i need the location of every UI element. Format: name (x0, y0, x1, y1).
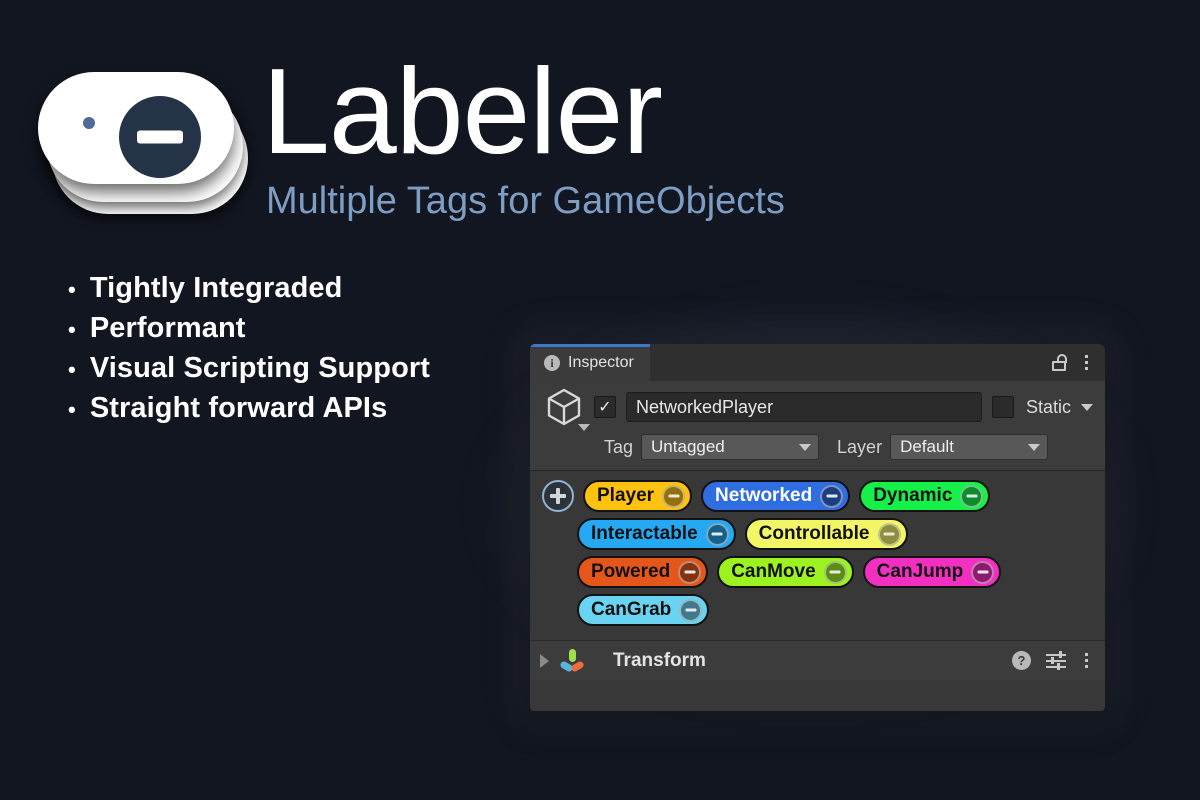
tab-inspector[interactable]: i Inspector (530, 344, 650, 381)
remove-tag-minus-icon[interactable] (960, 485, 983, 508)
tag-chip-label: Powered (591, 561, 670, 583)
tabbar-spacer (650, 344, 1052, 381)
remove-tag-minus-icon[interactable] (824, 561, 847, 584)
tag-chip-networked[interactable]: Networked (701, 480, 850, 512)
layer-label: Layer (837, 437, 882, 458)
chevron-down-icon (1028, 444, 1040, 451)
logo-stack-layer-1 (38, 72, 234, 184)
transform-axis-icon (559, 648, 585, 674)
help-icon[interactable]: ? (1012, 651, 1031, 670)
tag-dropdown[interactable]: Untagged (641, 434, 819, 460)
list-item-label: Performant (90, 312, 246, 345)
tag-chip-label: Interactable (591, 523, 698, 545)
remove-tag-minus-icon[interactable] (679, 599, 702, 622)
tag-minus-stack-logo-icon (48, 82, 224, 174)
list-item-label: Visual Scripting Support (90, 352, 430, 385)
list-item: • Performant (68, 312, 430, 345)
tabbar-actions (1052, 344, 1105, 381)
chevron-down-icon (799, 444, 811, 451)
gameobject-header: ✓ NetworkedPlayer Static Tag Untagged La… (530, 381, 1105, 471)
tag-chip-controllable[interactable]: Controllable (745, 518, 908, 550)
list-item: • Visual Scripting Support (68, 352, 430, 385)
tag-chip-canjump[interactable]: CanJump (863, 556, 1002, 588)
list-item-label: Straight forward APIs (90, 392, 388, 425)
chevron-down-icon (578, 424, 590, 431)
bullet-dot: • (68, 279, 76, 301)
inspector-panel: i Inspector (530, 344, 1105, 711)
remove-tag-minus-icon[interactable] (662, 485, 685, 508)
tag-row: CanGrab (542, 594, 1095, 626)
tag-chip-label: CanJump (877, 561, 964, 583)
gameobject-name-input[interactable]: NetworkedPlayer (626, 392, 982, 422)
cube-icon[interactable] (544, 387, 584, 427)
tag-chip-label: Controllable (759, 523, 870, 545)
remove-tag-minus-icon[interactable] (678, 561, 701, 584)
foldout-collapsed-icon[interactable] (540, 654, 549, 668)
tag-chip-powered[interactable]: Powered (577, 556, 708, 588)
remove-tag-minus-icon[interactable] (878, 523, 901, 546)
tag-row: Powered CanMove CanJump (542, 556, 1095, 588)
component-header-transform[interactable]: Transform ? (530, 640, 1105, 680)
minus-circle-icon (114, 91, 206, 183)
list-item: • Tightly Integraded (68, 272, 430, 305)
feature-list: • Tightly Integraded • Performant • Visu… (68, 272, 430, 432)
static-label: Static (1024, 397, 1071, 418)
layer-dropdown-value: Default (900, 437, 954, 457)
tag-label: Tag (604, 437, 633, 458)
tag-chip-label: CanMove (731, 561, 815, 583)
remove-tag-minus-icon[interactable] (706, 523, 729, 546)
tag-chip-label: Networked (715, 485, 812, 507)
layer-dropdown[interactable]: Default (890, 434, 1048, 460)
labeler-tags-area: Player Networked Dynamic Interactable (530, 471, 1105, 640)
tag-chip-label: CanGrab (591, 599, 671, 621)
inspector-tabbar: i Inspector (530, 344, 1105, 381)
poster-stage: Labeler Multiple Tags for GameObjects • … (0, 0, 1200, 800)
tag-chip-canmove[interactable]: CanMove (717, 556, 853, 588)
tag-dropdown-value: Untagged (651, 437, 725, 457)
tag-row: Player Networked Dynamic (542, 480, 1095, 512)
tag-chip-label: Dynamic (873, 485, 952, 507)
list-item: • Straight forward APIs (68, 392, 430, 425)
component-title: Transform (613, 650, 706, 672)
static-dropdown-chevron-icon[interactable] (1081, 404, 1093, 411)
tab-inspector-label: Inspector (568, 354, 634, 372)
static-checkbox[interactable] (992, 396, 1014, 418)
bullet-dot: • (68, 359, 76, 381)
gameobject-name-row: ✓ NetworkedPlayer Static (542, 389, 1093, 425)
list-item-label: Tightly Integraded (90, 272, 343, 305)
tag-layer-row: Tag Untagged Layer Default (542, 434, 1093, 460)
kebab-menu-icon[interactable] (1081, 651, 1092, 670)
tag-chip-dynamic[interactable]: Dynamic (859, 480, 990, 512)
lock-open-icon[interactable] (1052, 354, 1067, 371)
tag-chip-player[interactable]: Player (583, 480, 692, 512)
tag-chip-interactable[interactable]: Interactable (577, 518, 736, 550)
bullet-dot: • (68, 319, 76, 341)
add-tag-plus-button[interactable] (542, 480, 574, 512)
bullet-dot: • (68, 399, 76, 421)
tag-row: Interactable Controllable (542, 518, 1095, 550)
brand-logo (38, 58, 253, 218)
info-icon: i (544, 355, 560, 371)
kebab-menu-icon[interactable] (1081, 353, 1092, 372)
page-title: Labeler (262, 50, 662, 172)
component-actions: ? (1012, 651, 1092, 670)
minus-bar (137, 131, 183, 144)
tag-chip-cangrab[interactable]: CanGrab (577, 594, 709, 626)
remove-tag-minus-icon[interactable] (971, 561, 994, 584)
preset-settings-icon[interactable] (1046, 652, 1066, 670)
page-subtitle: Multiple Tags for GameObjects (266, 180, 785, 223)
tag-chip-label: Player (597, 485, 654, 507)
remove-tag-minus-icon[interactable] (820, 485, 843, 508)
gameobject-enabled-checkbox[interactable]: ✓ (594, 396, 616, 418)
